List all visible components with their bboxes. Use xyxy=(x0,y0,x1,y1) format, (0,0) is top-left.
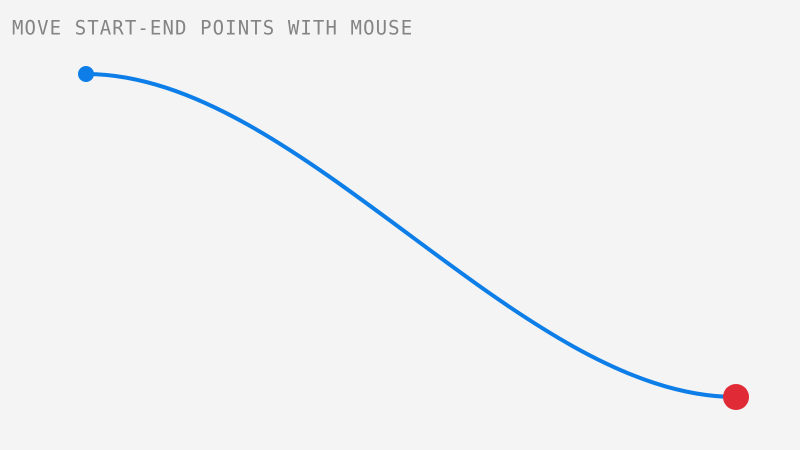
end-point-drag-target[interactable] xyxy=(723,384,749,410)
bezier-curve xyxy=(86,74,736,397)
start-point-drag-target[interactable] xyxy=(78,66,94,82)
bezier-editor-app: MOVE START-END POINTS WITH MOUSE xyxy=(0,0,800,450)
curve-canvas[interactable] xyxy=(0,0,800,450)
